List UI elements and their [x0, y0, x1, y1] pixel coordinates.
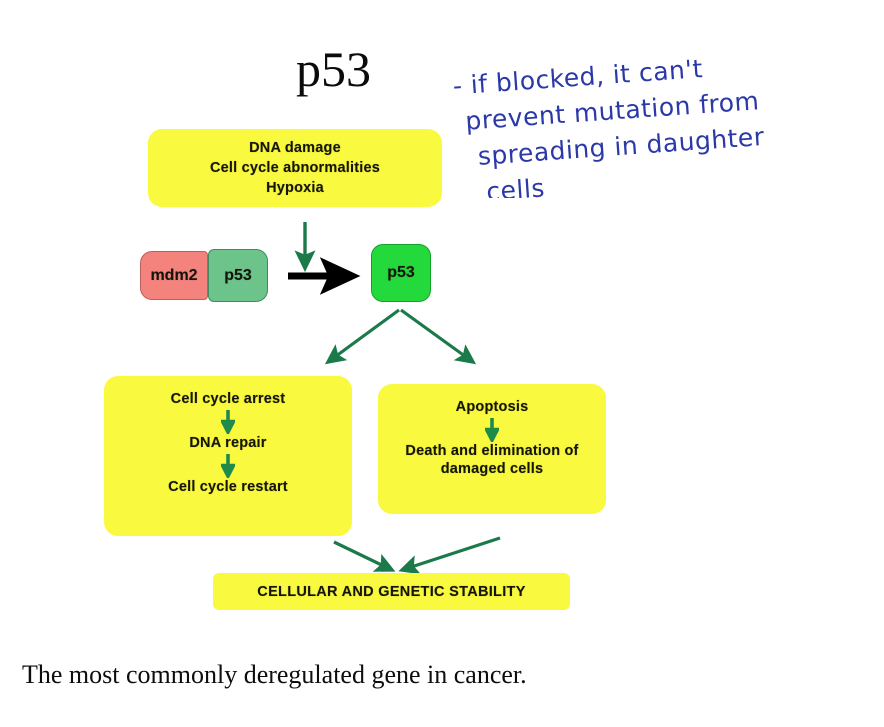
- arrow-p53-to-cellcycle: [328, 310, 399, 362]
- stability-box: CELLULAR AND GENETIC STABILITY: [213, 573, 570, 610]
- stability-label: CELLULAR AND GENETIC STABILITY: [257, 584, 525, 600]
- down-arrow-icon: [104, 408, 352, 434]
- arrow-apoptosis-to-stability: [402, 538, 500, 570]
- cellcycle-step-1: Cell cycle arrest: [171, 390, 286, 408]
- apoptosis-step-2-line-2: damaged cells: [441, 460, 544, 478]
- apoptosis-step-2-line-1: Death and elimination of: [405, 442, 578, 460]
- node-p53-bound: p53: [208, 249, 268, 302]
- diagram-arrows: [0, 0, 884, 727]
- node-p53-bound-label: p53: [224, 267, 252, 285]
- stimuli-line-3: Hypoxia: [266, 178, 324, 198]
- down-arrow-icon: [378, 416, 606, 442]
- stimuli-box: DNA damage Cell cycle abnormalities Hypo…: [148, 129, 442, 207]
- cellcycle-step-2: DNA repair: [189, 434, 266, 452]
- apoptosis-step-1: Apoptosis: [456, 398, 529, 416]
- node-mdm2-label: mdm2: [150, 267, 197, 285]
- cell-cycle-box: Cell cycle arrest DNA repair Cell cycle …: [104, 376, 352, 536]
- arrow-cellcycle-to-stability: [334, 542, 392, 570]
- node-p53-free: p53: [371, 244, 431, 302]
- stimuli-line-2: Cell cycle abnormalities: [210, 158, 380, 178]
- p53-pathway-diagram: DNA damage Cell cycle abnormalities Hypo…: [0, 0, 884, 727]
- node-mdm2: mdm2: [140, 251, 208, 300]
- stimuli-line-1: DNA damage: [249, 138, 341, 158]
- down-arrow-icon: [104, 452, 352, 478]
- slide-caption: The most commonly deregulated gene in ca…: [22, 658, 862, 692]
- node-p53-free-label: p53: [387, 264, 415, 282]
- arrow-p53-to-apoptosis: [401, 310, 473, 362]
- slide-canvas: p53 - if blocked, it can't prevent mutat…: [0, 0, 884, 727]
- cellcycle-step-3: Cell cycle restart: [168, 478, 288, 496]
- apoptosis-box: Apoptosis Death and elimination of damag…: [378, 384, 606, 514]
